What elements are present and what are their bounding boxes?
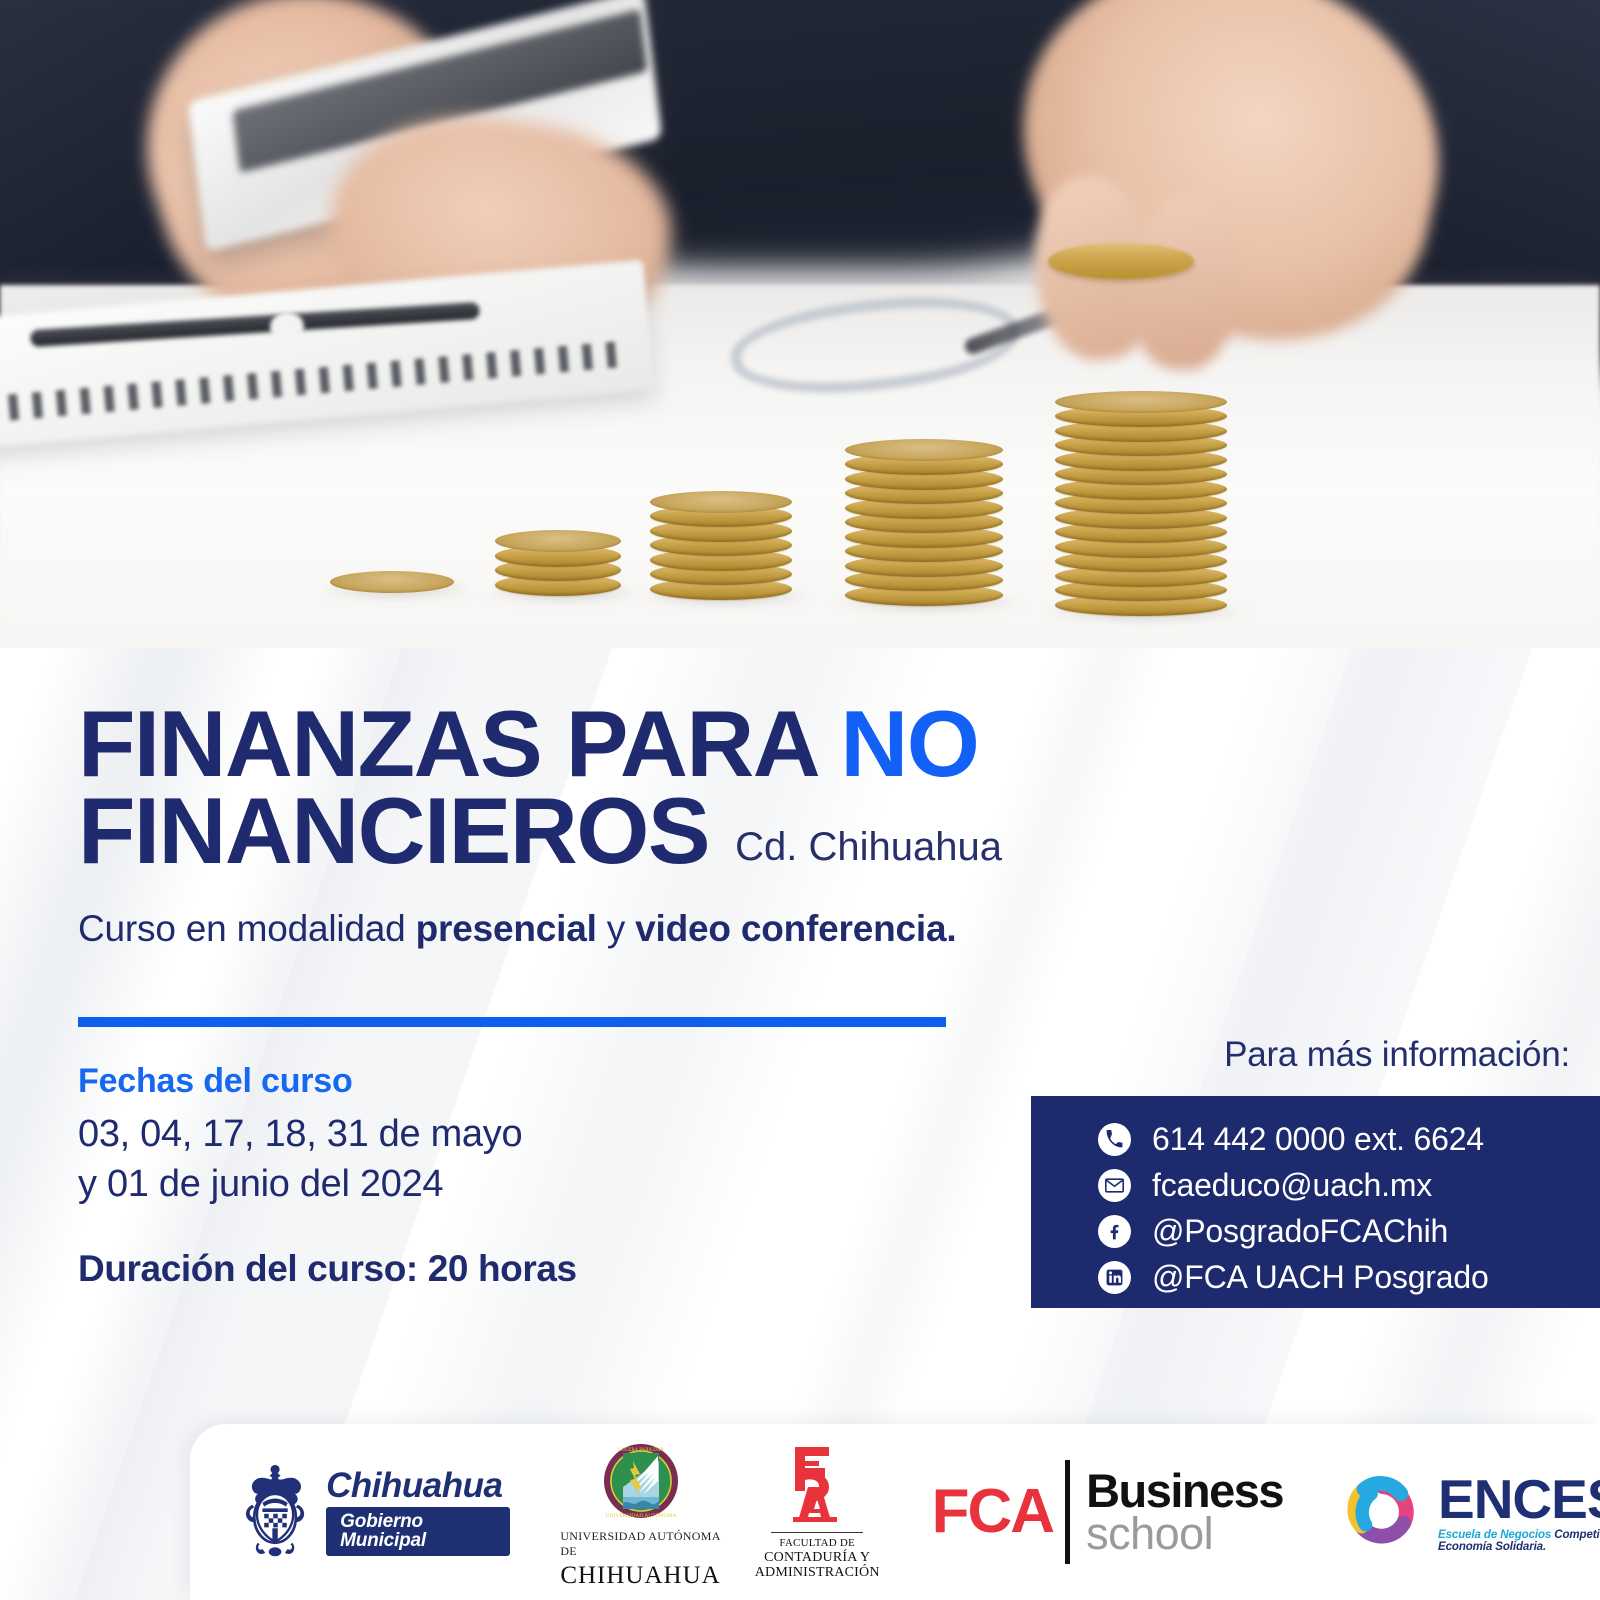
facultad-line-2: CONTADURÍA Y: [755, 1550, 880, 1565]
logo-fca-business-school: FCA Business school: [932, 1460, 1283, 1564]
logo-ences: ENCES Escuela de Negocios Competitivos y…: [1343, 1456, 1600, 1568]
linkedin-icon: [1098, 1261, 1131, 1294]
logo-chihuahua-gobierno: Chihuahua Gobierno Municipal: [238, 1458, 510, 1566]
subtitle-part-1: Curso en modalidad: [78, 908, 416, 949]
facultad-rule: [771, 1532, 863, 1533]
coin-held: [1048, 243, 1194, 279]
dates-label: Fechas del curso: [78, 1062, 353, 1101]
logo-card: Chihuahua Gobierno Municipal: [190, 1424, 1600, 1600]
hero-photo: [0, 0, 1600, 650]
uach-shield-icon: LUCERA PARA DAR UNIVERSIDAD AUTÓNOMA: [602, 1437, 680, 1525]
title-city: Cd. Chihuahua: [735, 829, 1002, 875]
ences-wordmark: ENCES Escuela de Negocios Competitivos y…: [1438, 1472, 1600, 1553]
course-duration: Duración del curso: 20 horas: [78, 1248, 577, 1290]
chihuahua-crest-icon: [238, 1458, 312, 1566]
chihuahua-sub: Gobierno Municipal: [326, 1507, 510, 1556]
fca-business-word: Business: [1086, 1469, 1283, 1513]
coin: [330, 571, 454, 593]
chihuahua-wordmark: Chihuahua Gobierno Municipal: [326, 1468, 510, 1556]
svg-text:UNIVERSIDAD AUTÓNOMA: UNIVERSIDAD AUTÓNOMA: [605, 1511, 676, 1519]
uach-line-2: CHIHUAHUA: [560, 1563, 720, 1588]
fca-business-fca: FCA: [932, 1481, 1053, 1543]
contact-text: @PosgradoFCAChih: [1152, 1213, 1448, 1250]
logo-row: Chihuahua Gobierno Municipal: [190, 1424, 1600, 1600]
facultad-line-1: FACULTAD DE: [755, 1538, 880, 1550]
fca-school-word: school: [1086, 1513, 1283, 1555]
page-title: FINANZAS PARA NO FINANCIEROS Cd. Chihuah…: [78, 700, 1002, 875]
contact-row[interactable]: fcaeduco@uach.mx: [1098, 1165, 1489, 1206]
dates-line-2: y 01 de junio del 2024: [78, 1163, 443, 1206]
ences-name: ENCES: [1438, 1472, 1600, 1527]
email-icon: [1098, 1169, 1131, 1202]
phone-icon: [1098, 1123, 1131, 1156]
section-divider: [78, 1017, 946, 1027]
poster: FINANZAS PARA NO FINANCIEROS Cd. Chihuah…: [0, 0, 1600, 1600]
coin: [495, 530, 621, 552]
contact-text: 614 442 0000 ext. 6624: [1152, 1121, 1484, 1158]
dates-line-1: 03, 04, 17, 18, 31 de mayo: [78, 1113, 522, 1156]
coin: [1055, 391, 1227, 413]
contact-list: 614 442 0000 ext. 6624fcaeduco@uach.mx@P…: [1098, 1119, 1489, 1298]
chihuahua-name: Chihuahua: [326, 1468, 510, 1503]
ences-tagline-a: Escuela de Negocios: [1438, 1529, 1554, 1541]
fca-monogram-icon: [785, 1443, 849, 1527]
title-highlight-no: NO: [840, 691, 978, 796]
contact-row[interactable]: 614 442 0000 ext. 6624: [1098, 1119, 1489, 1160]
subtitle: Curso en modalidad presencial y video co…: [78, 908, 956, 950]
title-line-1: FINANZAS PARA NO: [78, 700, 1002, 787]
fca-business-bar: [1065, 1460, 1070, 1564]
ences-ring-icon: [1343, 1456, 1422, 1568]
contact-row[interactable]: @PosgradoFCAChih: [1098, 1211, 1489, 1252]
subtitle-part-4: video conferencia.: [635, 908, 956, 949]
facebook-icon: [1098, 1215, 1131, 1248]
contact-text: fcaeduco@uach.mx: [1152, 1167, 1432, 1204]
contact-row[interactable]: @FCA UACH Posgrado: [1098, 1257, 1489, 1298]
title-line-2: FINANCIEROS: [78, 787, 709, 874]
logo-uach: LUCERA PARA DAR UNIVERSIDAD AUTÓNOMA UNI…: [560, 1437, 720, 1588]
svg-text:LUCERA PARA DAR: LUCERA PARA DAR: [618, 1448, 664, 1453]
fca-business-words: Business school: [1086, 1469, 1283, 1555]
coin: [650, 491, 792, 513]
coin: [845, 439, 1003, 461]
title-line-2-wrap: FINANCIEROS Cd. Chihuahua: [78, 787, 1002, 874]
facultad-line-3: ADMINISTRACIÓN: [755, 1565, 880, 1580]
logo-facultad-contaduria: FACULTAD DE CONTADURÍA Y ADMINISTRACIÓN: [755, 1443, 880, 1580]
contact-heading: Para más información:: [1224, 1035, 1570, 1075]
facultad-wordmark: FACULTAD DE CONTADURÍA Y ADMINISTRACIÓN: [755, 1538, 880, 1580]
ences-tagline: Escuela de Negocios Competitivos y Econo…: [1438, 1529, 1600, 1553]
subtitle-part-3: y: [597, 908, 635, 949]
contact-text: @FCA UACH Posgrado: [1152, 1259, 1489, 1296]
uach-line-1: UNIVERSIDAD AUTÓNOMA DE: [560, 1529, 720, 1559]
subtitle-part-2: presencial: [416, 908, 597, 949]
